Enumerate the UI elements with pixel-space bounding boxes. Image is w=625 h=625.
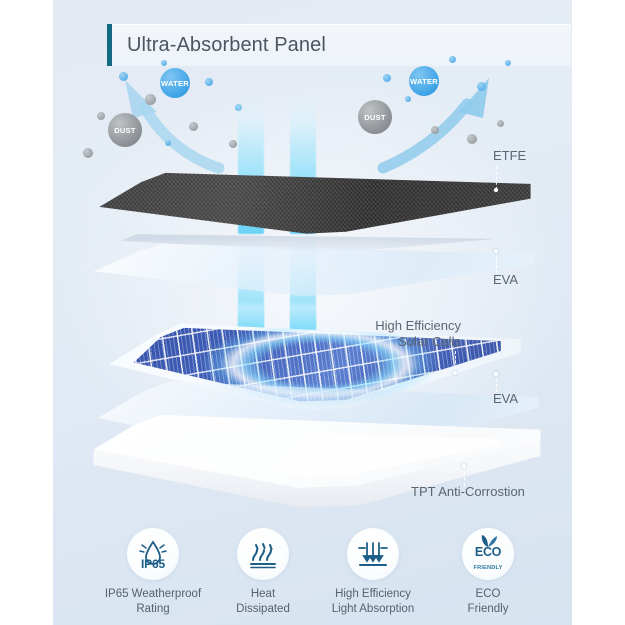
badge-water-right: WATER bbox=[409, 66, 439, 96]
leader-line-eva-bottom bbox=[496, 374, 498, 392]
feature-eco-label: ECO Friendly bbox=[423, 587, 553, 617]
water-particle bbox=[235, 104, 242, 111]
infographic-panel: Ultra-Absorbent Panel WATER DUST bbox=[53, 0, 572, 625]
leader-line-cells bbox=[455, 351, 457, 373]
eco-leaf-icon: ECO FRIENDLY bbox=[462, 528, 514, 580]
feature-light-absorption[interactable]: High Efficiency Light Absorption bbox=[308, 528, 438, 617]
title-accent-bar bbox=[107, 24, 112, 66]
feature-row: IP65 IP65 Weatherproof Rating bbox=[53, 528, 572, 624]
feature-eco[interactable]: ECO FRIENDLY ECO Friendly bbox=[423, 528, 553, 617]
leader-line-etfe bbox=[496, 166, 498, 190]
badge-dust-left-label: DUST bbox=[114, 126, 136, 135]
leader-dot-tpt bbox=[462, 464, 466, 468]
product-infographic: Ultra-Absorbent Panel WATER DUST bbox=[0, 0, 625, 625]
callout-tpt: TPT Anti-Corrostion bbox=[411, 484, 525, 500]
water-particle bbox=[477, 82, 486, 91]
water-particle bbox=[165, 140, 171, 146]
water-particle bbox=[405, 96, 411, 102]
water-particle bbox=[505, 60, 511, 66]
dust-particle bbox=[189, 122, 198, 131]
leader-dot-eva-top bbox=[494, 249, 498, 253]
water-drop-ip65-icon: IP65 bbox=[127, 528, 179, 580]
badge-water-left-label: WATER bbox=[161, 79, 189, 88]
water-particle bbox=[161, 60, 167, 66]
badge-water-right-label: WATER bbox=[410, 77, 438, 86]
badge-dust-right-label: DUST bbox=[364, 113, 386, 122]
callout-eva-bottom: EVA bbox=[493, 391, 518, 407]
heat-waves-shape bbox=[245, 536, 281, 572]
dust-particle bbox=[229, 140, 237, 148]
water-particle bbox=[449, 56, 456, 63]
water-particle bbox=[383, 74, 391, 82]
leader-dot-eva-bottom bbox=[494, 372, 498, 376]
feature-eco-line1: ECO bbox=[423, 587, 553, 602]
feature-light-line1: High Efficiency bbox=[308, 587, 438, 602]
feature-light-line2: Light Absorption bbox=[308, 602, 438, 617]
eco-badge-subtext: FRIENDLY bbox=[462, 565, 514, 571]
dust-particle bbox=[431, 126, 439, 134]
dust-particle bbox=[497, 120, 504, 127]
badge-water-left: WATER bbox=[160, 68, 190, 98]
water-particle bbox=[205, 78, 213, 86]
badge-dust-left: DUST bbox=[108, 113, 142, 147]
leader-line-tpt bbox=[464, 466, 466, 486]
callout-solar-cells-line2: Solar Cells bbox=[375, 334, 461, 350]
callout-solar-cells: High Efficiency Solar Cells bbox=[375, 318, 461, 350]
dust-particle bbox=[83, 148, 93, 158]
callout-solar-cells-line1: High Efficiency bbox=[375, 318, 461, 334]
badge-dust-right: DUST bbox=[358, 100, 392, 134]
page-title: Ultra-Absorbent Panel bbox=[127, 24, 326, 66]
callout-etfe: ETFE bbox=[493, 148, 526, 164]
light-arrows-down-icon bbox=[347, 528, 399, 580]
dust-particle bbox=[467, 134, 477, 144]
feature-light-label: High Efficiency Light Absorption bbox=[308, 587, 438, 617]
dust-particle bbox=[145, 94, 156, 105]
leader-dot-cells bbox=[453, 371, 457, 375]
eco-badge-text: ECO bbox=[462, 545, 514, 559]
down-arrows-shape bbox=[354, 535, 392, 573]
water-particle bbox=[119, 72, 128, 81]
leader-line-eva-top bbox=[496, 251, 498, 273]
heat-waves-icon bbox=[237, 528, 289, 580]
feature-eco-line2: Friendly bbox=[423, 602, 553, 617]
callout-eva-top: EVA bbox=[493, 272, 518, 288]
dust-particle bbox=[97, 112, 105, 120]
ip65-badge-text: IP65 bbox=[127, 557, 179, 571]
leader-dot-etfe bbox=[494, 188, 498, 192]
